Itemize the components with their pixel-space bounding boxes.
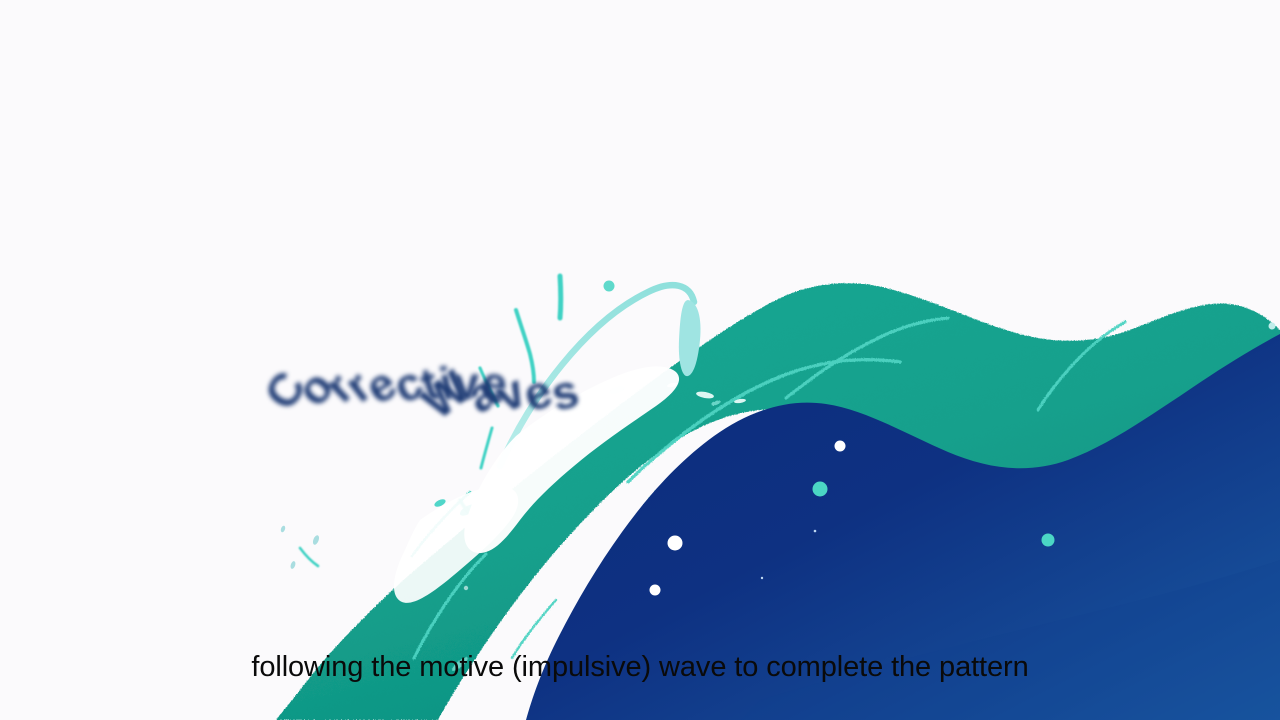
bubble-pale-1 [1269, 323, 1276, 330]
bubble-micro-1 [814, 530, 817, 533]
bubble-white-1 [835, 441, 846, 452]
caption-text: following the motive (impulsive) wave to… [0, 650, 1280, 685]
bubble-white-3 [650, 585, 661, 596]
bubble-pale-3 [464, 586, 468, 590]
bubble-white-2 [668, 536, 683, 551]
bubble-teal-1 [813, 482, 828, 497]
bubble-teal-2 [1042, 534, 1055, 547]
scene-canvas [0, 0, 1280, 720]
splash-streak-1 [560, 276, 561, 318]
wave-illustration-scene: Corrective Waves following the motive (i… [0, 0, 1280, 720]
bubble-micro-2 [761, 577, 763, 579]
bubble-teal-3 [604, 281, 615, 292]
